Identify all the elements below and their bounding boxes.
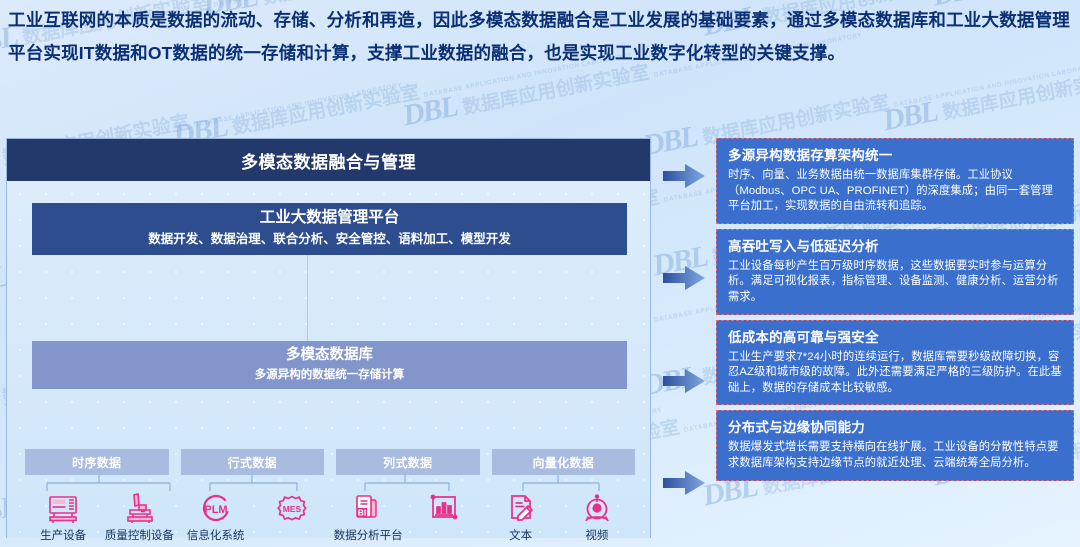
feature-card-distributed-edge[interactable]: 分布式与边缘协同能力 数据爆发式增长需要支持横向在线扩展。工业设备的分散性特点要… <box>716 410 1074 480</box>
diagram-panel: 多模态数据融合与管理 工业大数据管理平台 数据开发、数据治理、联合分析、安全管控… <box>6 138 651 538</box>
source-item-text[interactable]: 文本 <box>485 486 557 543</box>
card-title: 多源异构数据存算架构统一 <box>728 146 1063 166</box>
source-item-chart[interactable] <box>408 486 480 543</box>
svg-text:PLM: PLM <box>204 504 227 516</box>
source-item-bi[interactable]: BI 数据分析平台 <box>332 486 404 543</box>
production-equipment-icon <box>27 486 99 526</box>
multimodal-db-title: 多模态数据库 <box>32 345 627 366</box>
source-label-informatization: 信息化系统 <box>180 527 252 543</box>
chip-timeseries[interactable]: 时序数据 <box>25 449 169 475</box>
source-group-equipment: 生产设备 <box>25 486 178 543</box>
quality-control-equipment-icon <box>103 486 175 526</box>
platform-subtitle: 数据开发、数据治理、联合分析、安全管控、语料加工、模型开发 <box>32 229 627 249</box>
flow-arrow-3 <box>663 368 705 394</box>
source-group-analytics: BI 数据分析平台 <box>330 486 483 543</box>
chip-row-data[interactable]: 行式数据 <box>181 449 325 475</box>
chip-vector-data[interactable]: 向量化数据 <box>492 449 636 475</box>
svg-text:MES: MES <box>283 504 302 514</box>
mes-icon: MES <box>256 486 328 526</box>
source-item-video[interactable]: 视频 <box>561 486 633 543</box>
card-body: 工业设备每秒产生百万级时序数据，这些数据要实时参与运算分析。满足可视化报表，指标… <box>728 259 1063 306</box>
page-headline: 工业互联网的本质是数据的流动、存储、分析和再造，因此多模态数据融合是工业发展的基… <box>8 4 1078 70</box>
diagram-body: 工业大数据管理平台 数据开发、数据治理、联合分析、安全管控、语料加工、模型开发 … <box>7 181 650 538</box>
chip-column-data[interactable]: 列式数据 <box>336 449 480 475</box>
bi-document-icon: BI <box>332 486 404 526</box>
source-label-quality-control: 质量控制设备 <box>103 527 175 543</box>
plm-icon: PLM <box>180 486 252 526</box>
feature-card-high-throughput[interactable]: 高吞吐写入与低延迟分析 工业设备每秒产生百万级时序数据，这些数据要实时参与运算分… <box>716 229 1074 315</box>
flow-arrow-2 <box>663 265 705 291</box>
source-label-bi: 数据分析平台 <box>332 527 404 543</box>
source-label-production-equipment: 生产设备 <box>27 527 99 543</box>
flow-arrow-4 <box>663 470 705 496</box>
source-item-mes[interactable]: MES <box>256 486 328 543</box>
feature-card-list: 多源异构数据存算架构统一 时序、向量、业务数据由统一数据库集群存储。工业协议（M… <box>716 138 1074 486</box>
data-type-chip-row: 时序数据 行式数据 列式数据 向量化数据 <box>25 449 635 475</box>
source-label-text: 文本 <box>485 527 557 543</box>
text-document-icon <box>485 486 557 526</box>
card-title: 高吞吐写入与低延迟分析 <box>728 237 1063 257</box>
platform-box: 工业大数据管理平台 数据开发、数据治理、联合分析、安全管控、语料加工、模型开发 <box>32 203 627 255</box>
feature-card-low-cost-reliable[interactable]: 低成本的高可靠与强安全 工业生产要求7*24小时的连续运行，数据库需要秒级故障切… <box>716 320 1074 406</box>
bar-chart-icon <box>408 486 480 526</box>
source-group-unstructured: 文本 视频 <box>483 486 636 543</box>
feature-card-unified-architecture[interactable]: 多源异构数据存算架构统一 时序、向量、业务数据由统一数据库集群存储。工业协议（M… <box>716 138 1074 224</box>
multimodal-db-subtitle: 多源异构的数据统一存储计算 <box>32 366 627 385</box>
card-body: 时序、向量、业务数据由统一数据库集群存储。工业协议（Modbus、OPC UA、… <box>728 168 1063 215</box>
platform-title: 工业大数据管理平台 <box>32 206 627 229</box>
flow-arrow-1 <box>663 163 705 189</box>
multimodal-db-box: 多模态数据库 多源异构的数据统一存储计算 <box>32 341 627 389</box>
source-group-informatization: PLM 信息化系统 MES <box>178 486 331 543</box>
source-item-production-equipment[interactable]: 生产设备 <box>27 486 99 543</box>
source-item-quality-control[interactable]: 质量控制设备 <box>103 486 175 543</box>
video-camera-icon <box>561 486 633 526</box>
diagram-title: 多模态数据融合与管理 <box>7 139 650 181</box>
source-item-plm[interactable]: PLM 信息化系统 <box>180 486 252 543</box>
svg-text:BI: BI <box>358 508 367 518</box>
card-title: 低成本的高可靠与强安全 <box>728 328 1063 348</box>
card-title: 分布式与边缘协同能力 <box>728 418 1063 438</box>
source-label-video: 视频 <box>561 527 633 543</box>
card-body: 数据爆发式增长需要支持横向在线扩展。工业设备的分散性特点要求数据库架构支持边缘节… <box>728 440 1063 471</box>
card-body: 工业生产要求7*24小时的连续运行，数据库需要秒级故障切换，容忍AZ级和城市级的… <box>728 350 1063 397</box>
source-icon-row: 生产设备 <box>25 486 635 543</box>
